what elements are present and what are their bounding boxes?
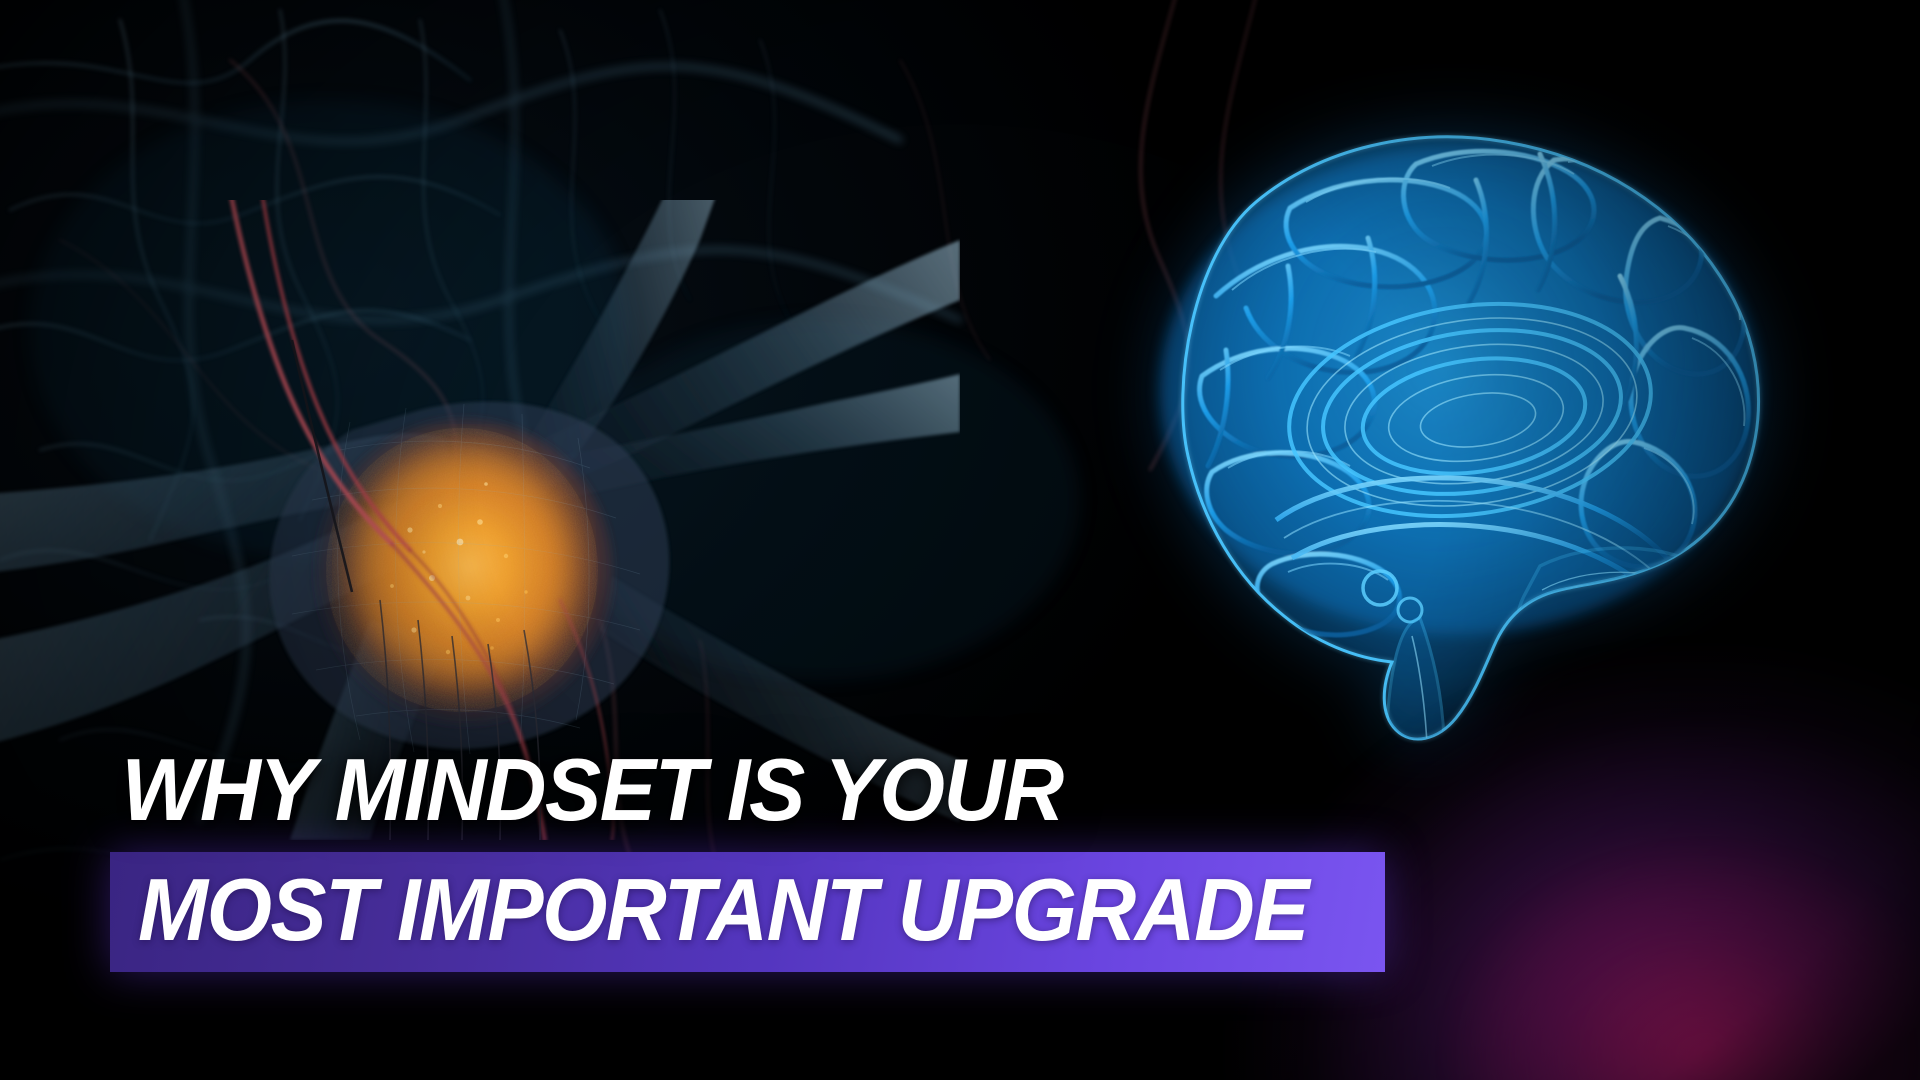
headline-line-1: WHY MINDSET IS YOUR <box>110 742 1742 838</box>
poster-canvas: WHY MINDSET IS YOUR MOST IMPORTANT UPGRA… <box>0 0 1920 1080</box>
title-block: WHY MINDSET IS YOUR MOST IMPORTANT UPGRA… <box>110 742 1810 972</box>
headline-line-2: MOST IMPORTANT UPGRADE <box>138 860 1308 960</box>
brain-illustration <box>1020 90 1810 790</box>
headline-banner: MOST IMPORTANT UPGRADE <box>110 852 1385 972</box>
